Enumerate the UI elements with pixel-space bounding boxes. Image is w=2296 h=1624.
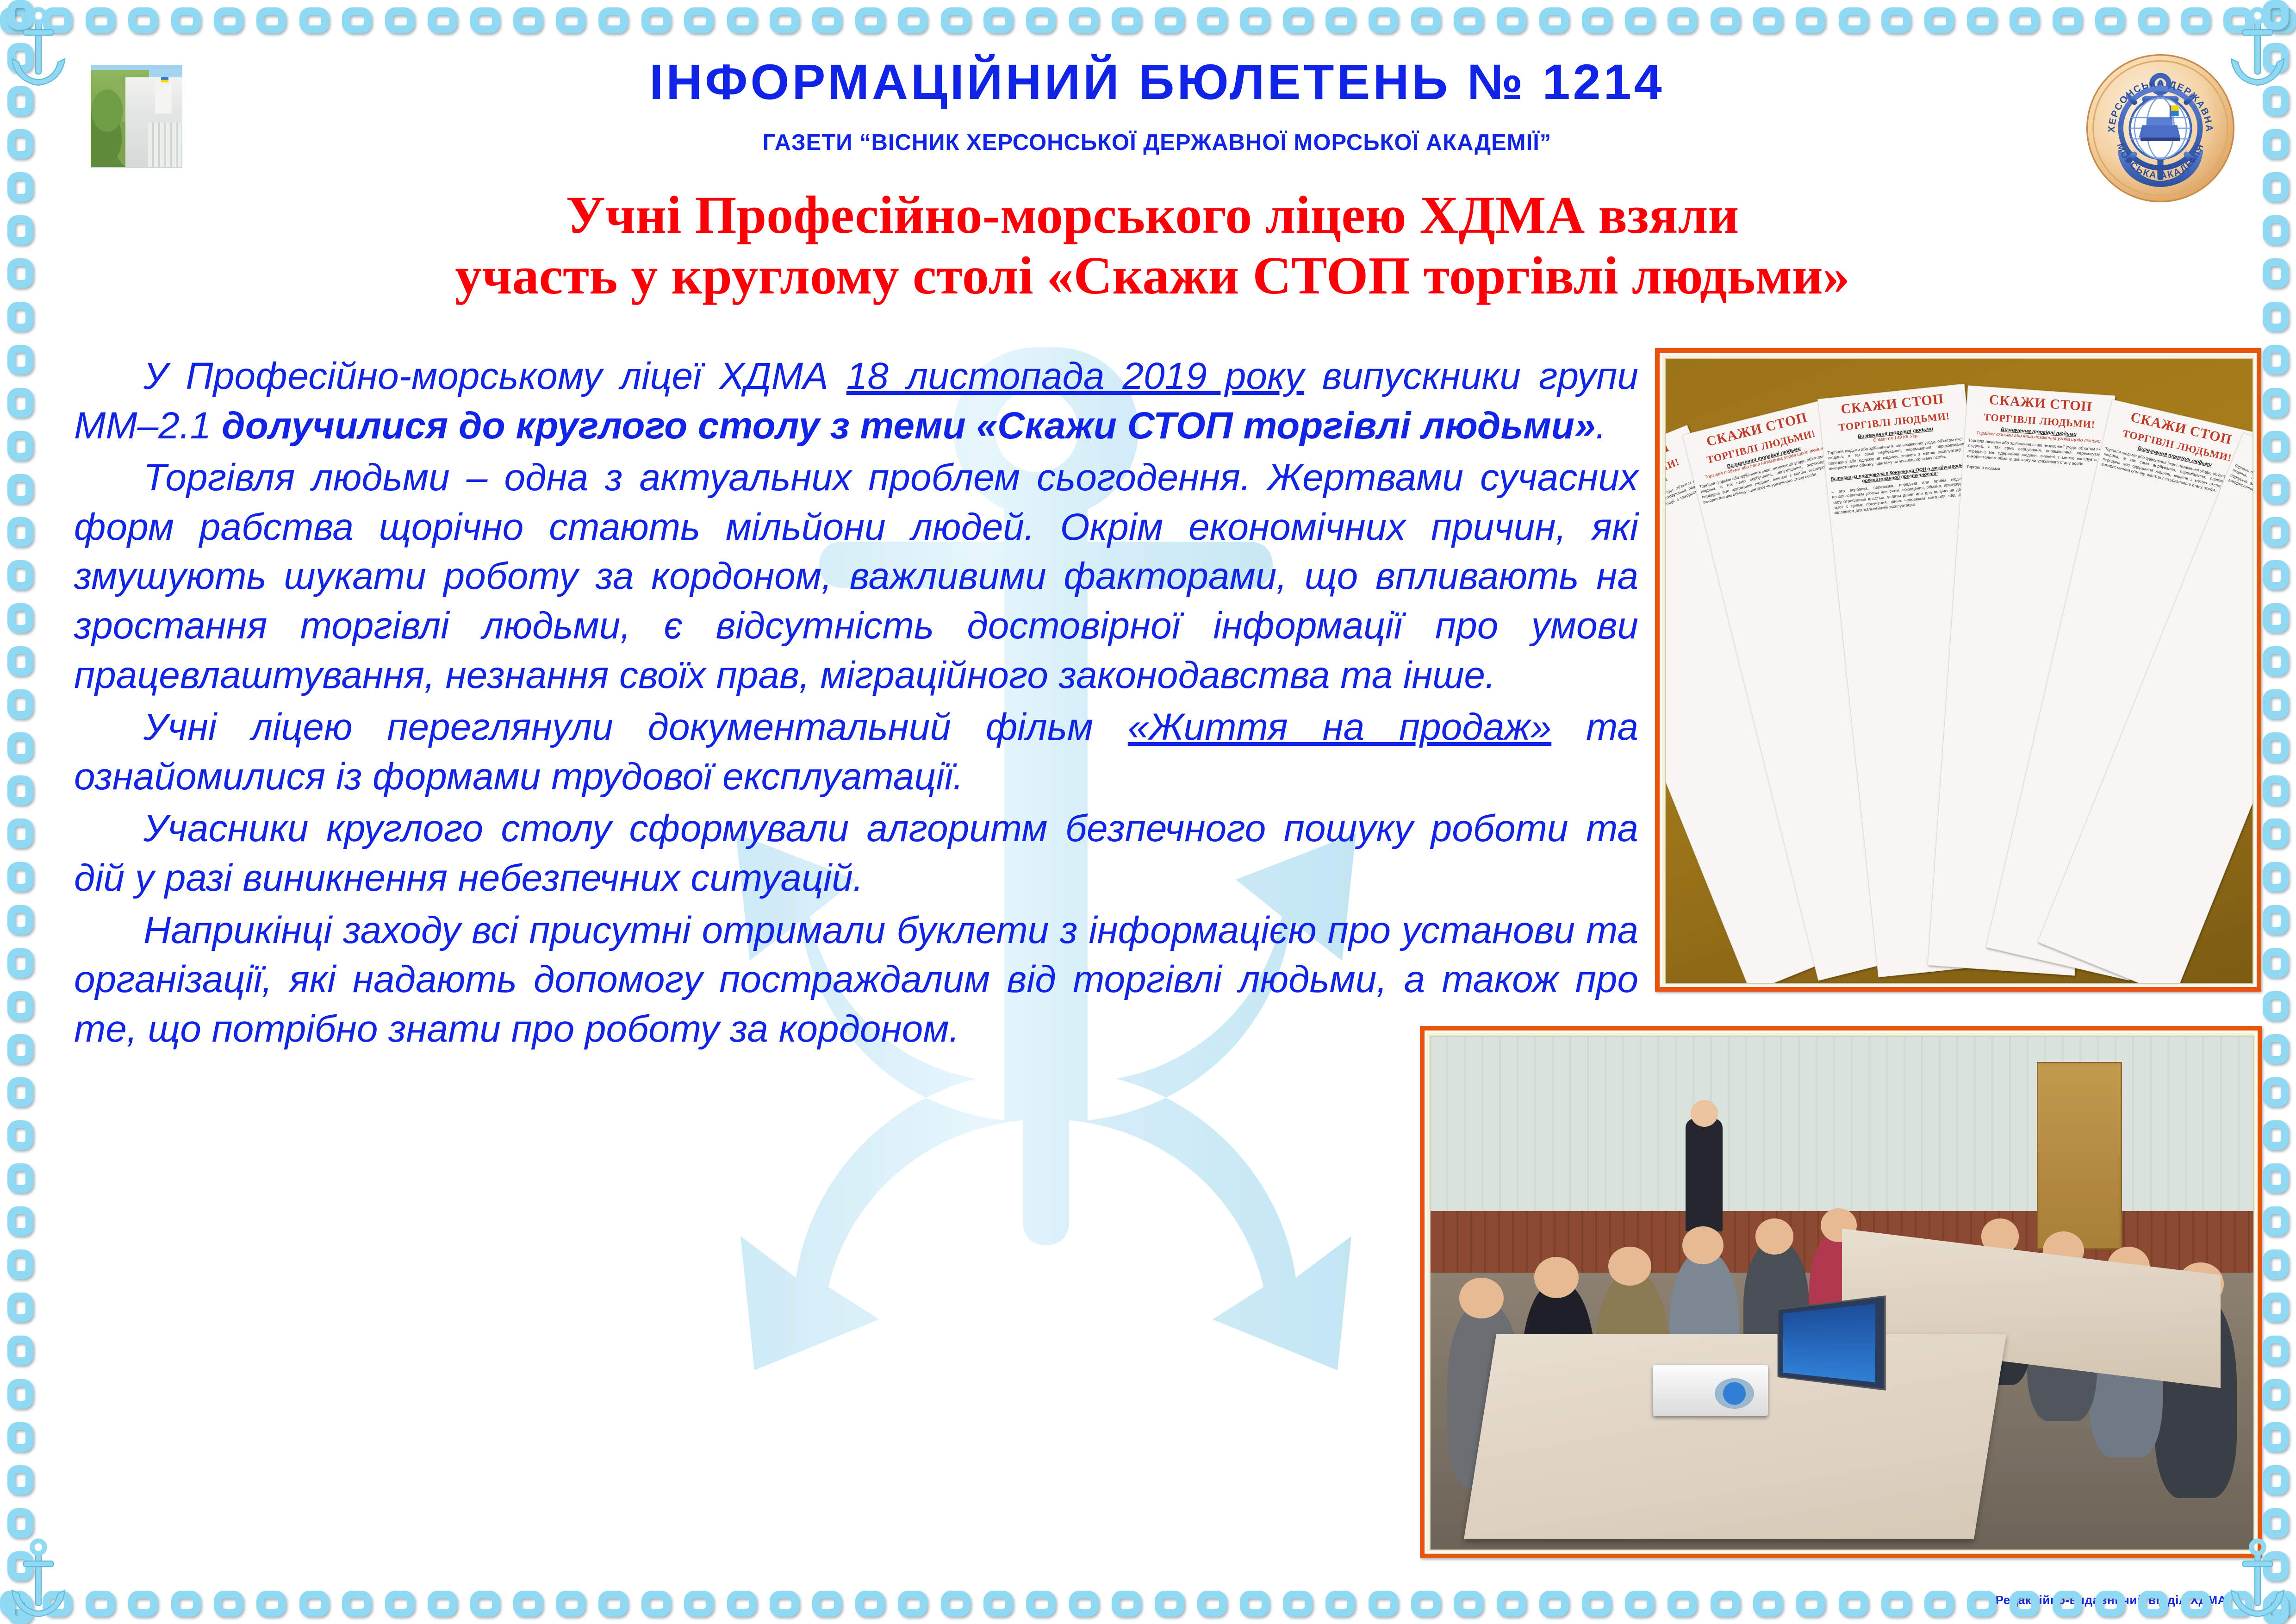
projector-lens	[1715, 1378, 1754, 1409]
photo-classroom	[1420, 1026, 2262, 1558]
photo-leaflets: СКАЖИ СТОП ТОРГІВЛІ ЛЮДЬМИ! Визначення т…	[1655, 348, 2261, 992]
article-body: У Професійно-морському ліцеї ХДМА 18 лис…	[74, 352, 1638, 1056]
bulletin-page: ХЕРСОНСЬКА ДЕРЖАВНА МОРСЬКА АКАДЕМІЯ ІНФ…	[0, 0, 2296, 1624]
page-subtitle: ГАЗЕТИ “ВІСНИК ХЕРСОНСЬКОЇ ДЕРЖАВНОЇ МОР…	[324, 130, 1990, 156]
paragraph-segment: Учні ліцею переглянули документальний фі…	[143, 706, 1128, 748]
article-paragraph: Торгівля людьми – одна з актуальних проб…	[74, 453, 1638, 700]
student-head	[1608, 1247, 1651, 1286]
photo-mat	[1425, 1031, 2258, 1554]
article-paragraph: Учасники круглого столу сформували алгор…	[74, 804, 1638, 903]
academy-building-photo: ХЕРСОНСЬКА ДЕРЖАВНА МОРСЬКА АКАДЕМІЯ	[91, 65, 182, 168]
leaflet-body: Торгівля людьми або здійснення іншої нез…	[2223, 459, 2253, 539]
building-tower	[155, 81, 172, 113]
teacher-head	[1691, 1100, 1718, 1127]
article-headline: Учні Професійно-морського ліцею ХДМА взя…	[153, 185, 2152, 306]
student-head	[1755, 1218, 1793, 1255]
academy-logo: ХЕРСОНСЬКА ДЕРЖАВНА МОРСЬКА АКАДЕМІЯ	[2084, 52, 2237, 205]
page-title: ІНФОРМАЦІЙНИЙ БЮЛЕТЕНЬ № 1214	[324, 56, 1990, 108]
paragraph-segment: Учасники круглого столу сформували алгор…	[74, 807, 1638, 899]
article-headline-line2: участь у круглому столі «Скажи СТОП торг…	[153, 246, 2152, 306]
student-head	[1534, 1257, 1579, 1298]
footer-credit: Редакційно-видавничий відділ ХДМА	[1996, 1593, 2227, 1607]
photo-inner: СКАЖИ СТОП ТОРГІВЛІ ЛЮДЬМИ! Визначення т…	[1665, 358, 2253, 984]
classroom-door	[2037, 1062, 2122, 1249]
article-headline-line1: Учні Професійно-морського ліцею ХДМА взя…	[153, 185, 2152, 246]
projector	[1653, 1365, 1768, 1416]
student-head	[1682, 1226, 1724, 1264]
photo-inner	[1430, 1036, 2254, 1550]
article-paragraph: Учні ліцею переглянули документальний фі…	[74, 703, 1638, 801]
paragraph-segment-underline: 18 листопада 2019 року	[846, 355, 1304, 397]
paragraph-segment: У Професійно-морському ліцеї ХДМА	[143, 355, 846, 397]
photo-mat: СКАЖИ СТОП ТОРГІВЛІ ЛЮДЬМИ! Визначення т…	[1660, 353, 2257, 987]
ukrainian-flag-icon	[161, 77, 168, 82]
laptop	[1778, 1295, 1886, 1391]
paragraph-segment: Торгівля людьми – одна з актуальних проб…	[74, 456, 1638, 696]
academy-building: ХЕРСОНСЬКА ДЕРЖАВНА МОРСЬКА АКАДЕМІЯ	[125, 77, 182, 167]
building-columns	[148, 123, 180, 167]
paragraph-segment: Наприкінці заходу всі присутні отримали …	[74, 909, 1638, 1050]
paragraph-segment-bold: долучилися до круглого столу з теми «Ска…	[222, 405, 1596, 447]
paragraph-segment: .	[1596, 405, 1606, 447]
paragraph-segment-underline: «Життя на продаж»	[1128, 706, 1551, 748]
teacher-body	[1686, 1118, 1723, 1231]
article-paragraph: Наприкінці заходу всі присутні отримали …	[74, 906, 1638, 1054]
student-head	[1459, 1278, 1504, 1319]
article-paragraph: У Професійно-морському ліцеї ХДМА 18 лис…	[74, 352, 1638, 450]
laptop-screen	[1783, 1304, 1875, 1382]
